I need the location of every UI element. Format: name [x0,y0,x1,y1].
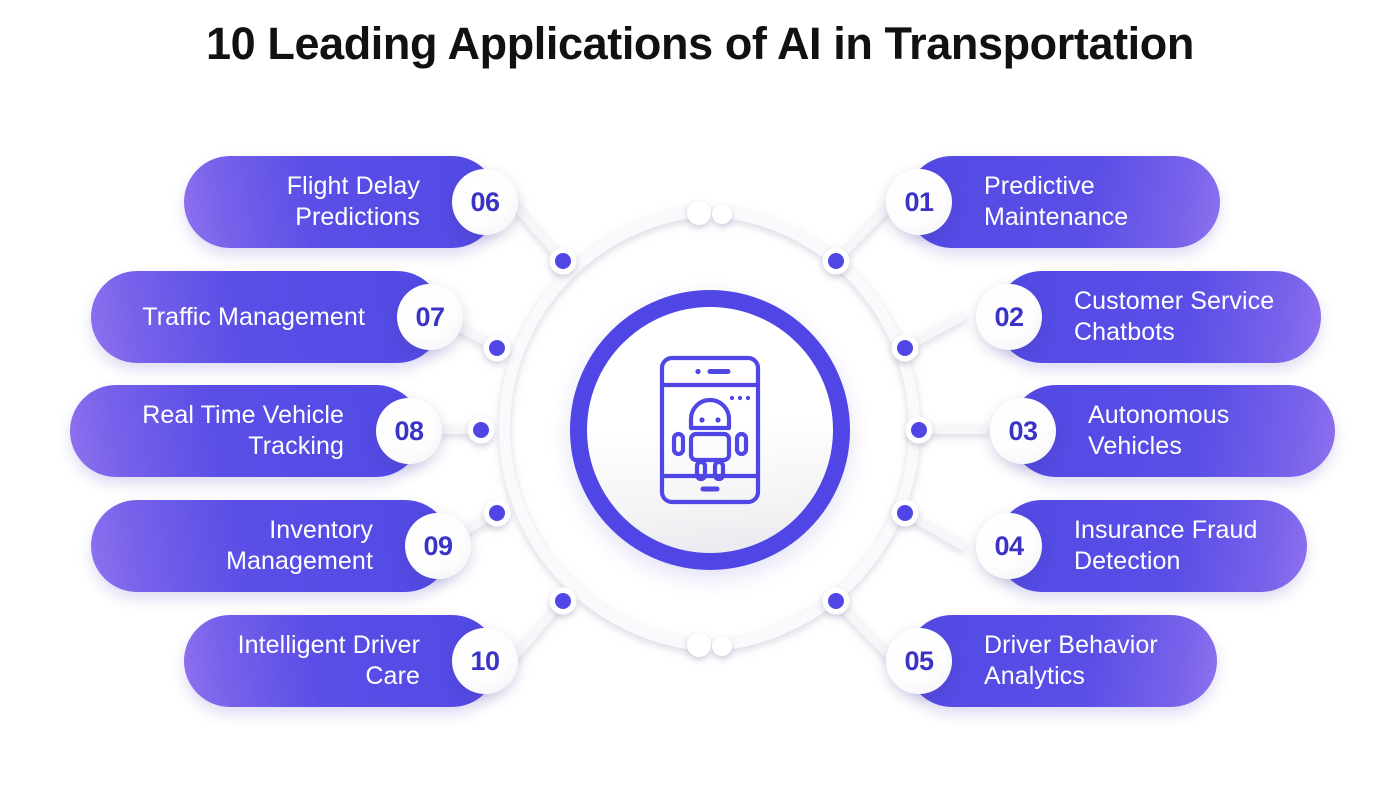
item-02-number: 02 [994,302,1023,333]
item-03-pill[interactable]: Autonomous Vehicles [1010,385,1335,477]
item-01-label: Predictive Maintenance [984,171,1128,233]
page-title: 10 Leading Applications of AI in Transpo… [0,18,1400,70]
item-04-badge[interactable]: 04 [976,513,1042,579]
item-05[interactable]: Driver Behavior Analytics 05 [906,615,1217,707]
item-07-number: 07 [415,302,444,333]
smartphone-robot-icon [658,354,762,506]
item-08-label: Real Time Vehicle Tracking [142,400,344,462]
item-09[interactable]: Inventory Management 09 [91,500,451,592]
item-05-number: 05 [904,646,933,677]
item-05-badge[interactable]: 05 [886,628,952,694]
item-03[interactable]: Autonomous Vehicles 03 [1010,385,1335,477]
item-10-number: 10 [470,646,499,677]
item-03-badge[interactable]: 03 [990,398,1056,464]
item-06-badge[interactable]: 06 [452,169,518,235]
item-07[interactable]: Traffic Management 07 [91,271,443,363]
item-04-number: 04 [994,531,1023,562]
item-07-badge[interactable]: 07 [397,284,463,350]
item-09-pill[interactable]: Inventory Management [91,500,451,592]
item-06[interactable]: Flight Delay Predictions 06 [184,156,498,248]
item-04-pill[interactable]: Insurance Fraud Detection [996,500,1307,592]
item-06-label: Flight Delay Predictions [287,171,420,233]
item-08-number: 08 [394,416,423,447]
item-06-pill[interactable]: Flight Delay Predictions [184,156,498,248]
infographic-canvas: 10 Leading Applications of AI in Transpo… [0,0,1400,786]
item-04-label: Insurance Fraud Detection [1074,515,1258,577]
center-emblem [570,290,850,570]
item-05-pill[interactable]: Driver Behavior Analytics [906,615,1217,707]
item-07-label: Traffic Management [142,302,365,333]
item-06-number: 06 [470,187,499,218]
item-08[interactable]: Real Time Vehicle Tracking 08 [70,385,422,477]
item-01-badge[interactable]: 01 [886,169,952,235]
item-01[interactable]: Predictive Maintenance 01 [906,156,1220,248]
item-10-badge[interactable]: 10 [452,628,518,694]
item-07-pill[interactable]: Traffic Management [91,271,443,363]
item-09-badge[interactable]: 09 [405,513,471,579]
item-02-pill[interactable]: Customer Service Chatbots [996,271,1321,363]
item-05-label: Driver Behavior Analytics [984,630,1158,692]
item-08-badge[interactable]: 08 [376,398,442,464]
item-10-label: Intelligent Driver Care [238,630,420,692]
item-03-number: 03 [1008,416,1037,447]
item-02[interactable]: Customer Service Chatbots 02 [996,271,1321,363]
item-03-label: Autonomous Vehicles [1088,400,1305,462]
item-10-pill[interactable]: Intelligent Driver Care [184,615,498,707]
item-10[interactable]: Intelligent Driver Care 10 [184,615,498,707]
item-01-number: 01 [904,187,933,218]
item-08-pill[interactable]: Real Time Vehicle Tracking [70,385,422,477]
item-02-label: Customer Service Chatbots [1074,286,1274,348]
item-04[interactable]: Insurance Fraud Detection 04 [996,500,1307,592]
item-01-pill[interactable]: Predictive Maintenance [906,156,1220,248]
item-09-label: Inventory Management [121,515,373,577]
item-02-badge[interactable]: 02 [976,284,1042,350]
item-09-number: 09 [423,531,452,562]
